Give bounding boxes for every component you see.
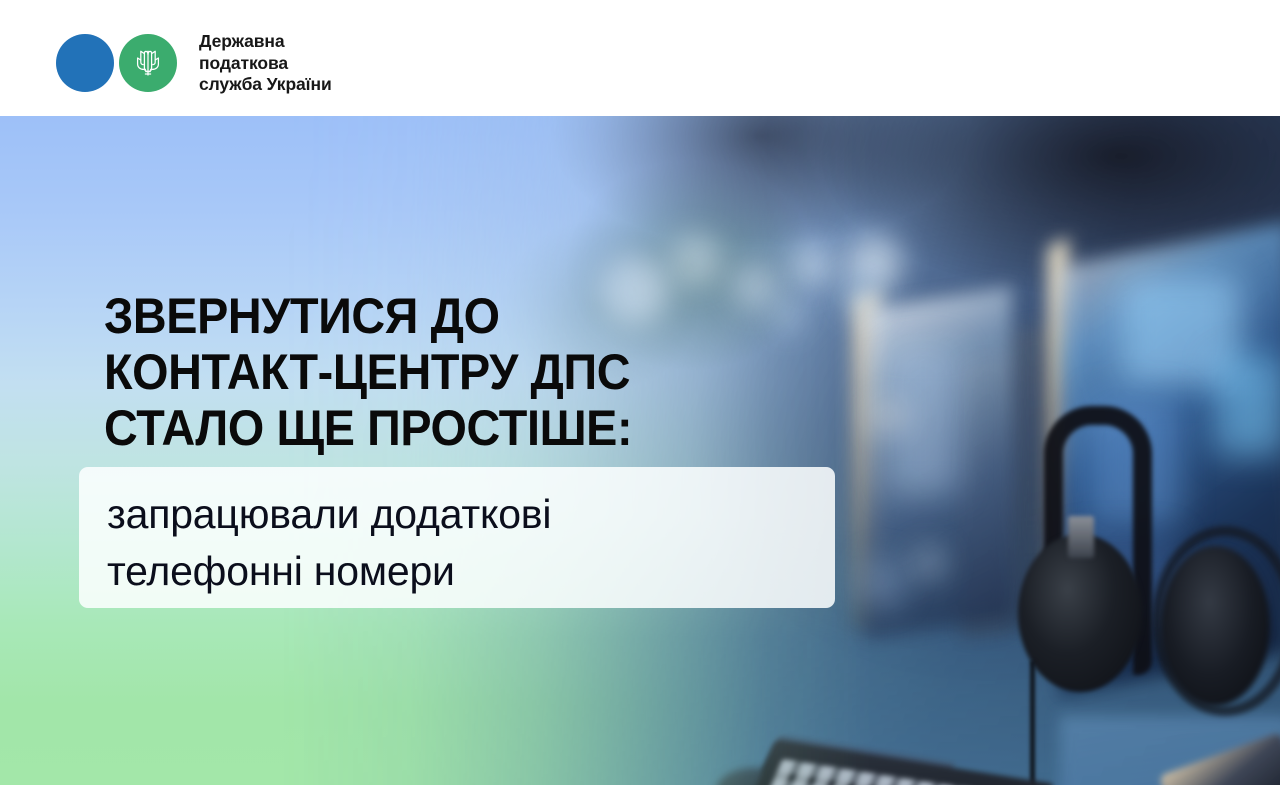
headphone-earcup-right: [1160, 546, 1270, 706]
organization-logo[interactable]: Державна податкова служба України: [56, 31, 332, 96]
headline-line-1: ЗВЕРНУТИСЯ ДО: [104, 288, 632, 344]
screen-glow-3: [1215, 356, 1280, 456]
screen-glow-5: [888, 346, 958, 496]
logo-text-line-3: служба України: [199, 74, 332, 96]
logo-text-line-1: Державна: [199, 31, 332, 53]
blue-circle-icon: [56, 34, 114, 92]
green-circle-icon: [119, 34, 177, 92]
headphone-cable: [1030, 661, 1105, 785]
headline-line-3: СТАЛО ЩЕ ПРОСТІШЕ:: [104, 400, 632, 456]
subtitle-line-2: телефонні номери: [107, 543, 835, 600]
hero-subtitle-panel: запрацювали додаткові телефонні номери: [79, 467, 835, 608]
subtitle-line-1: запрацювали додаткові: [107, 486, 835, 543]
headphone-hinge: [1068, 516, 1094, 558]
header-band: Державна податкова служба України: [0, 0, 1280, 116]
headline-line-2: КОНТАКТ-ЦЕНТРУ ДПС: [104, 344, 632, 400]
hero-headline: ЗВЕРНУТИСЯ ДО КОНТАКТ-ЦЕНТРУ ДПС СТАЛО Щ…: [104, 288, 632, 456]
organization-name: Державна податкова служба України: [199, 31, 332, 96]
logo-text-line-2: податкова: [199, 53, 332, 75]
ukraine-trident-icon: [135, 48, 161, 78]
hero-subtitle: запрацювали додаткові телефонні номери: [107, 486, 835, 600]
promo-banner: ЗВЕРНУТИСЯ ДО КОНТАКТ-ЦЕНТРУ ДПС СТАЛО Щ…: [0, 0, 1280, 785]
